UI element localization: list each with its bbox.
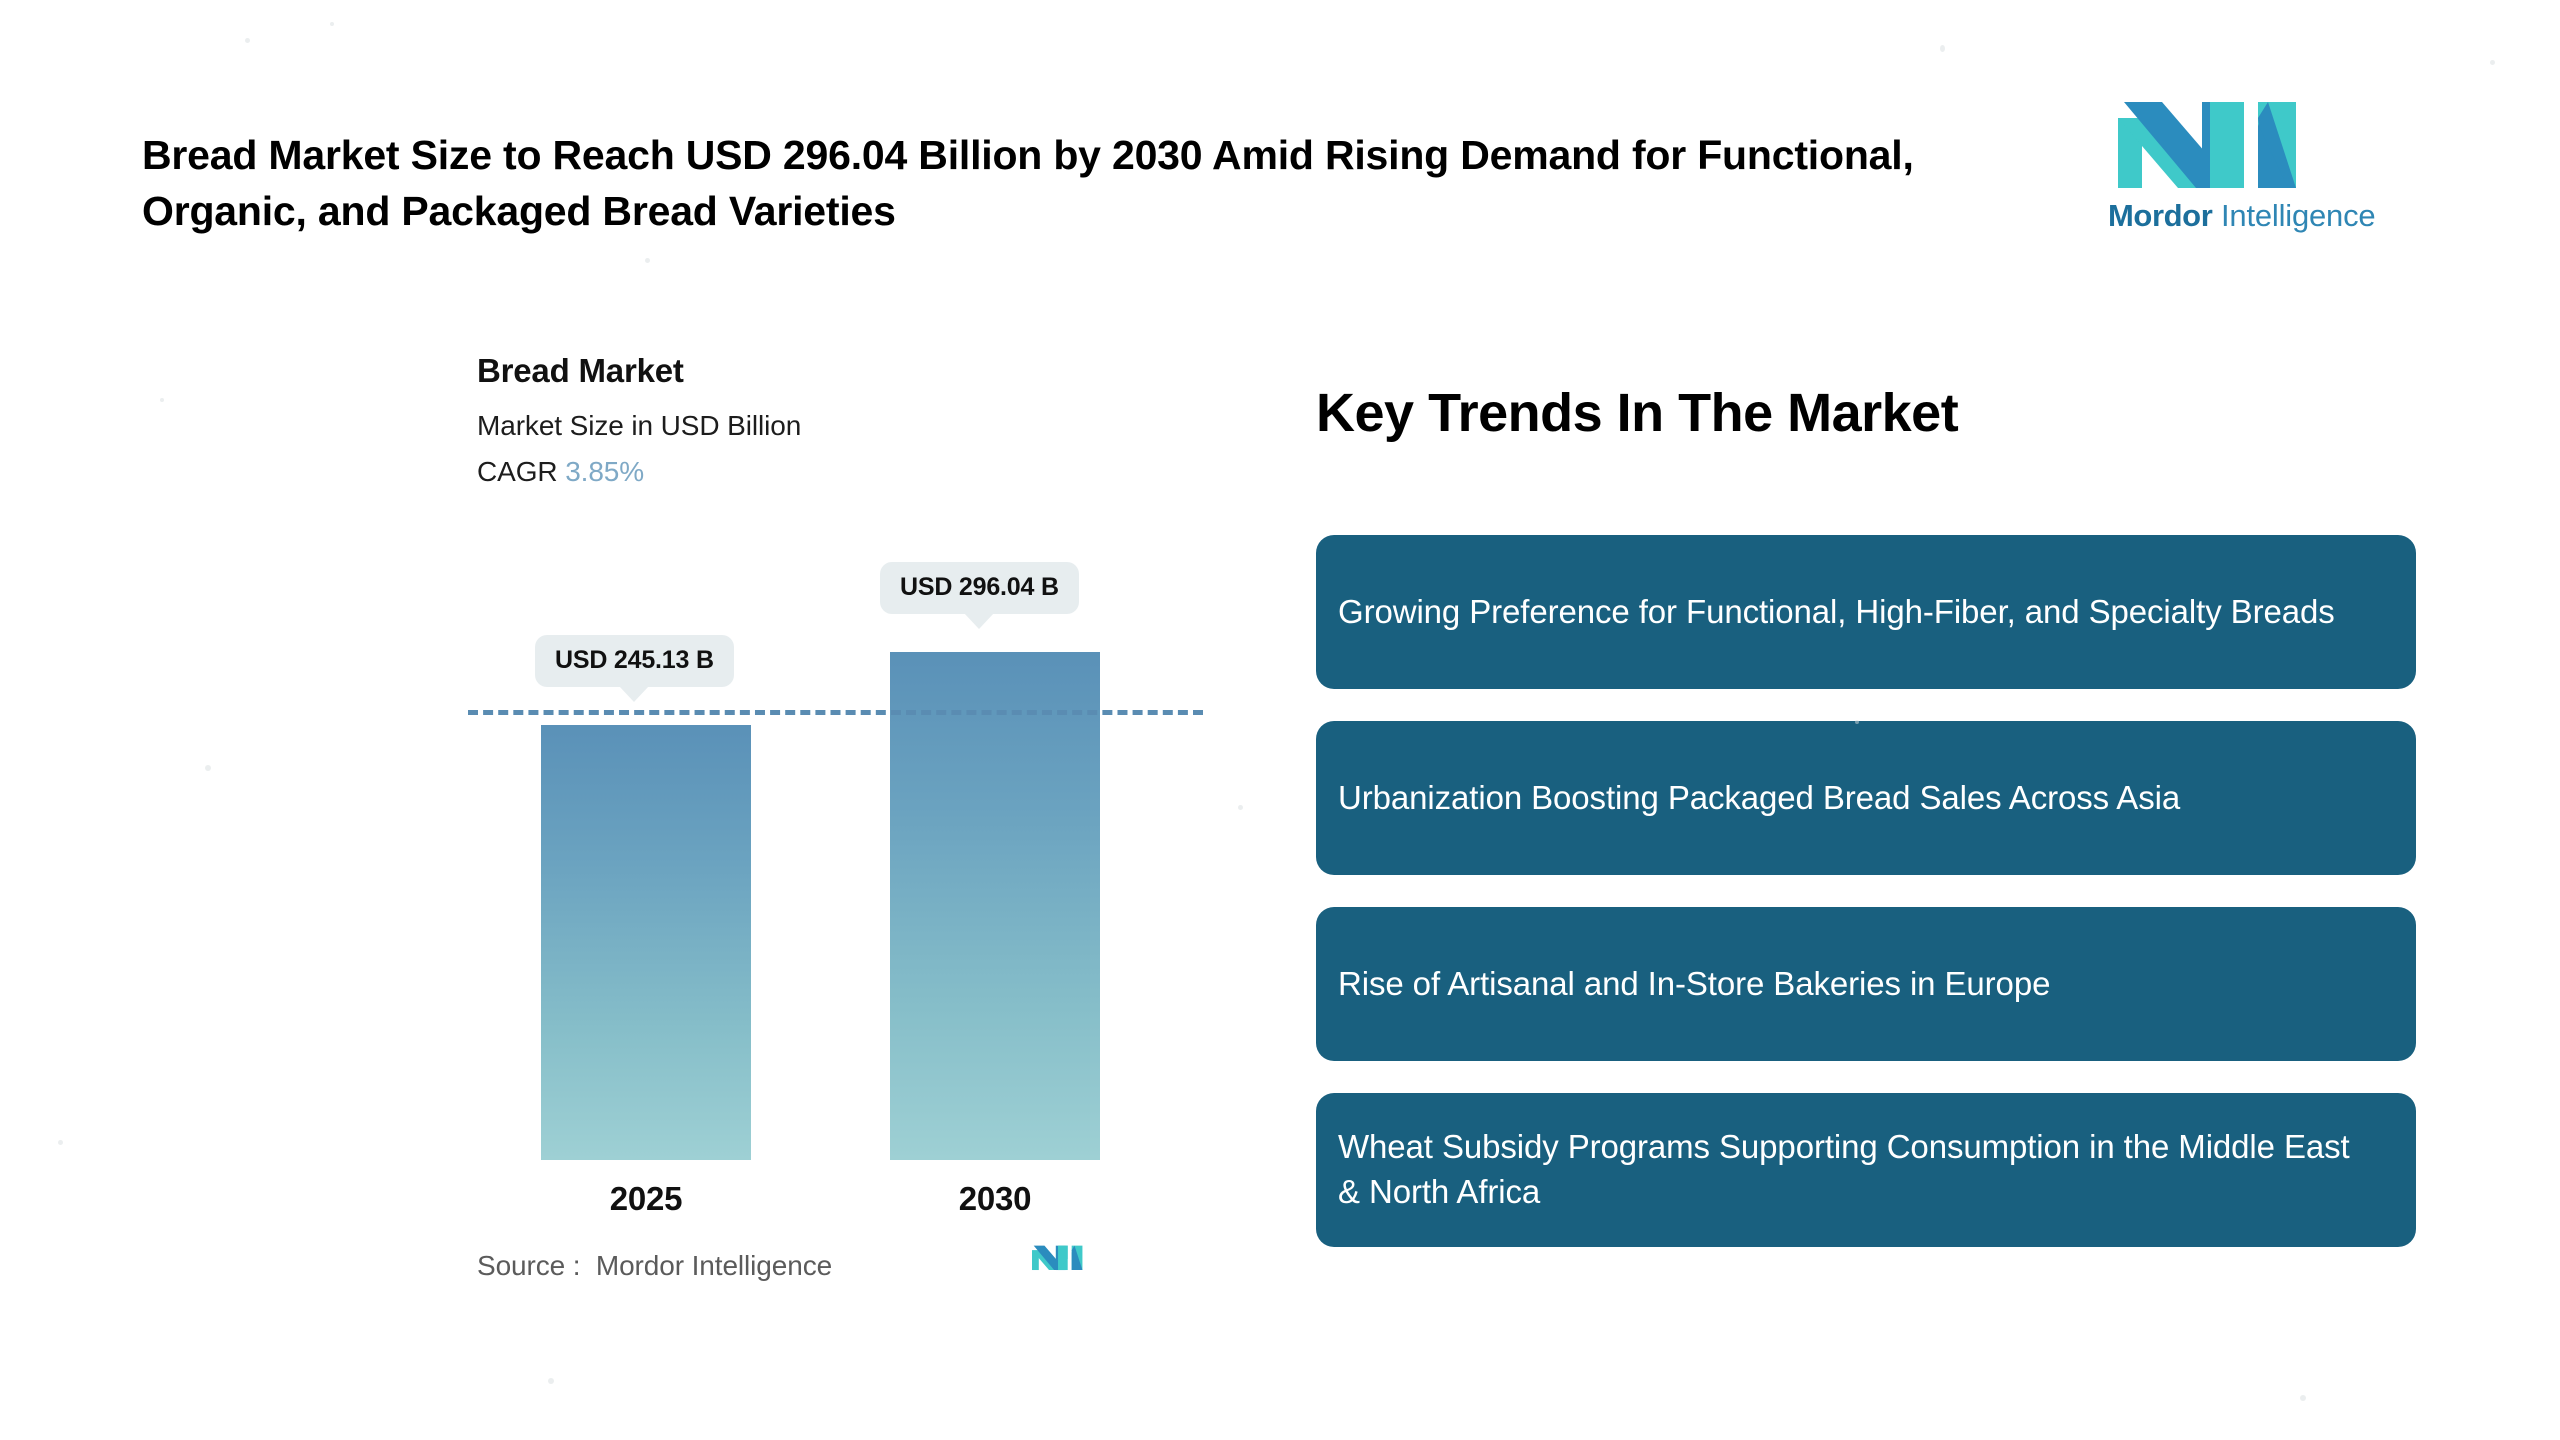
trend-card[interactable]: Growing Preference for Functional, High-… xyxy=(1316,535,2416,689)
key-trends-panel: Key Trends In The Market Growing Prefere… xyxy=(1292,0,2472,1440)
chart-subtitle: Market Size in USD Billion xyxy=(477,410,801,442)
trend-card-text: Urbanization Boosting Packaged Bread Sal… xyxy=(1316,776,2218,821)
background-speck xyxy=(205,765,211,771)
background-speck xyxy=(58,1140,63,1145)
background-speck xyxy=(2490,60,2495,65)
bar-2025 xyxy=(541,725,751,1160)
source-value: Mordor Intelligence xyxy=(596,1250,832,1281)
key-trends-card-list: Growing Preference for Functional, High-… xyxy=(1316,535,2416,1279)
trend-card[interactable]: Rise of Artisanal and In-Store Bakeries … xyxy=(1316,907,2416,1061)
trend-card-text: Rise of Artisanal and In-Store Bakeries … xyxy=(1316,962,2088,1007)
trend-card[interactable]: Urbanization Boosting Packaged Bread Sal… xyxy=(1316,721,2416,875)
background-speck xyxy=(1238,805,1243,810)
x-axis-label-2025: 2025 xyxy=(541,1180,751,1218)
background-speck xyxy=(330,22,334,26)
cagr-value: 3.85% xyxy=(565,456,644,487)
chart-panel: Bread Market Market Size in USD Billion … xyxy=(0,0,1280,1440)
background-speck xyxy=(245,38,250,43)
cagr-label: CAGR xyxy=(477,456,558,487)
chart-cagr: CAGR 3.85% xyxy=(477,456,644,488)
chart-title: Bread Market xyxy=(477,352,684,390)
bar-chart-plot-area: USD 245.13 B USD 296.04 B 2025 2030 xyxy=(440,540,1220,1160)
background-speck xyxy=(1940,45,1945,52)
background-speck xyxy=(2300,1395,2306,1401)
x-axis-label-2030: 2030 xyxy=(890,1180,1100,1218)
trend-card[interactable]: Wheat Subsidy Programs Supporting Consum… xyxy=(1316,1093,2416,1247)
mordor-logo-mark-small xyxy=(1032,1229,1100,1285)
background-speck xyxy=(1855,720,1859,724)
background-speck xyxy=(548,1378,554,1384)
background-speck xyxy=(160,398,164,402)
value-label-2030: USD 296.04 B xyxy=(880,562,1079,614)
chart-source-row: Source : Mordor Intelligence xyxy=(477,1245,1177,1305)
reference-dashed-line xyxy=(468,710,1203,715)
background-speck xyxy=(645,258,650,263)
source-text: Source : Mordor Intelligence xyxy=(477,1250,832,1282)
bar-2030 xyxy=(890,652,1100,1160)
trend-card-text: Growing Preference for Functional, High-… xyxy=(1316,590,2373,635)
value-label-2025: USD 245.13 B xyxy=(535,635,734,687)
key-trends-heading: Key Trends In The Market xyxy=(1316,382,1958,444)
source-label: Source : xyxy=(477,1250,580,1281)
trend-card-text: Wheat Subsidy Programs Supporting Consum… xyxy=(1316,1125,2416,1214)
